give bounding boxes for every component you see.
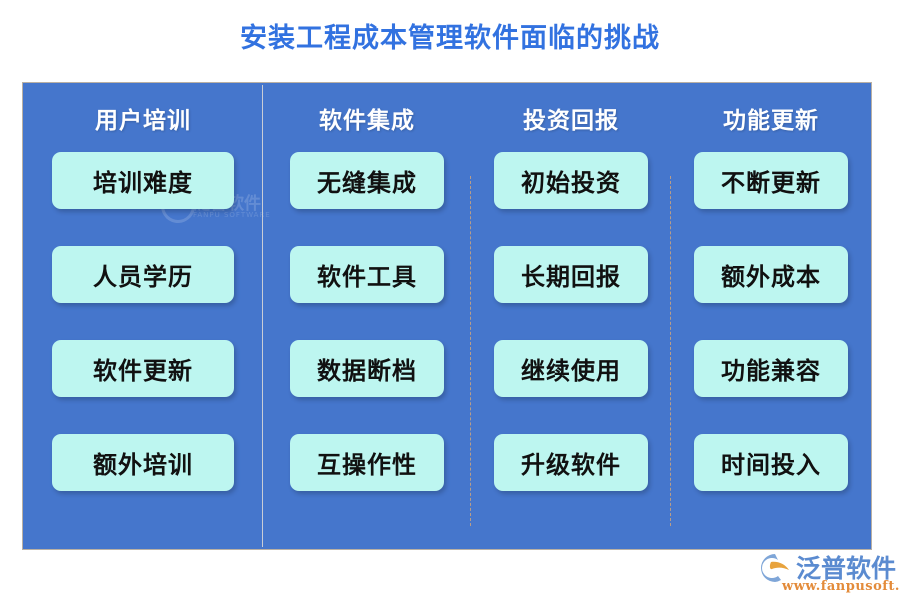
- columns-container: 用户培训 培训难度 人员学历 软件更新 额外培训 软件集成 无缝集成 软件工具 …: [23, 83, 871, 549]
- item-card[interactable]: 软件工具: [290, 246, 444, 303]
- item-card[interactable]: 长期回报: [494, 246, 648, 303]
- item-card[interactable]: 继续使用: [494, 340, 648, 397]
- item-card[interactable]: 升级软件: [494, 434, 648, 491]
- item-card[interactable]: 不断更新: [694, 152, 848, 209]
- item-card[interactable]: 软件更新: [52, 340, 234, 397]
- column-header: 功能更新: [723, 106, 819, 136]
- slide-canvas: 安装工程成本管理软件面临的挑战 泛普软件 FANPU SOFTWARE 用户培训…: [0, 0, 900, 600]
- column-header: 投资回报: [523, 106, 619, 136]
- item-card[interactable]: 额外培训: [52, 434, 234, 491]
- item-card[interactable]: 初始投资: [494, 152, 648, 209]
- column-divider-1: [262, 85, 263, 547]
- column-software-integration: 软件集成 无缝集成 软件工具 数据断档 互操作性: [263, 83, 471, 549]
- brand-logo[interactable]: 泛普软件 www.fanpusoft.com: [758, 551, 898, 597]
- item-card[interactable]: 额外成本: [694, 246, 848, 303]
- content-panel: 泛普软件 FANPU SOFTWARE 用户培训 培训难度 人员学历 软件更新 …: [22, 82, 872, 550]
- item-card[interactable]: 人员学历: [52, 246, 234, 303]
- item-card[interactable]: 数据断档: [290, 340, 444, 397]
- item-card[interactable]: 无缝集成: [290, 152, 444, 209]
- item-card[interactable]: 功能兼容: [694, 340, 848, 397]
- column-header: 软件集成: [319, 106, 415, 136]
- column-investment-return: 投资回报 初始投资 长期回报 继续使用 升级软件: [471, 83, 671, 549]
- column-divider-3: [670, 176, 671, 526]
- column-feature-update: 功能更新 不断更新 额外成本 功能兼容 时间投入: [671, 83, 871, 549]
- column-divider-2: [470, 176, 471, 526]
- column-user-training: 用户培训 培训难度 人员学历 软件更新 额外培训: [23, 83, 263, 549]
- item-card[interactable]: 互操作性: [290, 434, 444, 491]
- item-card[interactable]: 时间投入: [694, 434, 848, 491]
- column-header: 用户培训: [95, 106, 191, 136]
- page-title: 安装工程成本管理软件面临的挑战: [0, 22, 900, 56]
- logo-url: www.fanpusoft.com: [782, 579, 900, 594]
- item-card[interactable]: 培训难度: [52, 152, 234, 209]
